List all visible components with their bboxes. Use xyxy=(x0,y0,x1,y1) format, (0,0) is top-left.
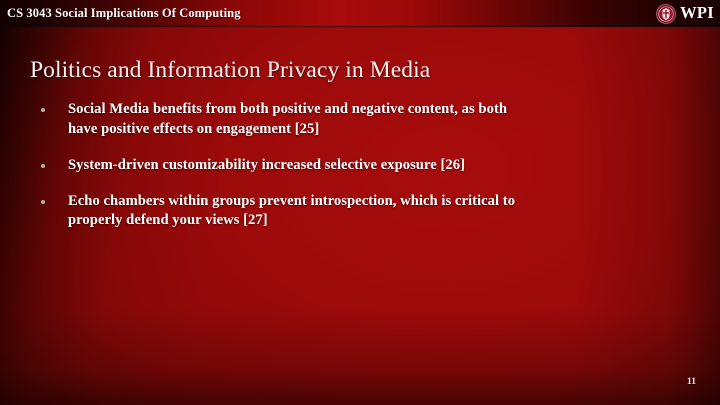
bullet-marker-icon xyxy=(41,164,45,168)
slide-header-bar: CS 3043 Social Implications Of Computing… xyxy=(0,0,720,27)
list-item: Social Media benefits from both positive… xyxy=(38,100,538,140)
list-item: Echo chambers within groups prevent intr… xyxy=(38,192,538,232)
list-item-text: Social Media benefits from both positive… xyxy=(68,100,538,140)
presentation-slide: CS 3043 Social Implications Of Computing… xyxy=(0,0,720,405)
list-item: System-driven customizability increased … xyxy=(38,156,538,176)
list-item-text: Echo chambers within groups prevent intr… xyxy=(68,192,538,232)
bullet-marker-icon xyxy=(41,108,45,112)
page-number: 11 xyxy=(687,377,696,387)
slide-body: Social Media benefits from both positive… xyxy=(38,100,538,231)
bullet-marker-icon xyxy=(41,200,45,204)
wpi-wordmark: WPI xyxy=(680,5,714,22)
list-item-text: System-driven customizability increased … xyxy=(68,156,538,176)
wpi-branding: WPI xyxy=(656,0,714,27)
slide-title: Politics and Information Privacy in Medi… xyxy=(30,57,670,83)
wpi-seal-icon xyxy=(656,4,676,24)
course-title: CS 3043 Social Implications Of Computing xyxy=(7,6,241,21)
